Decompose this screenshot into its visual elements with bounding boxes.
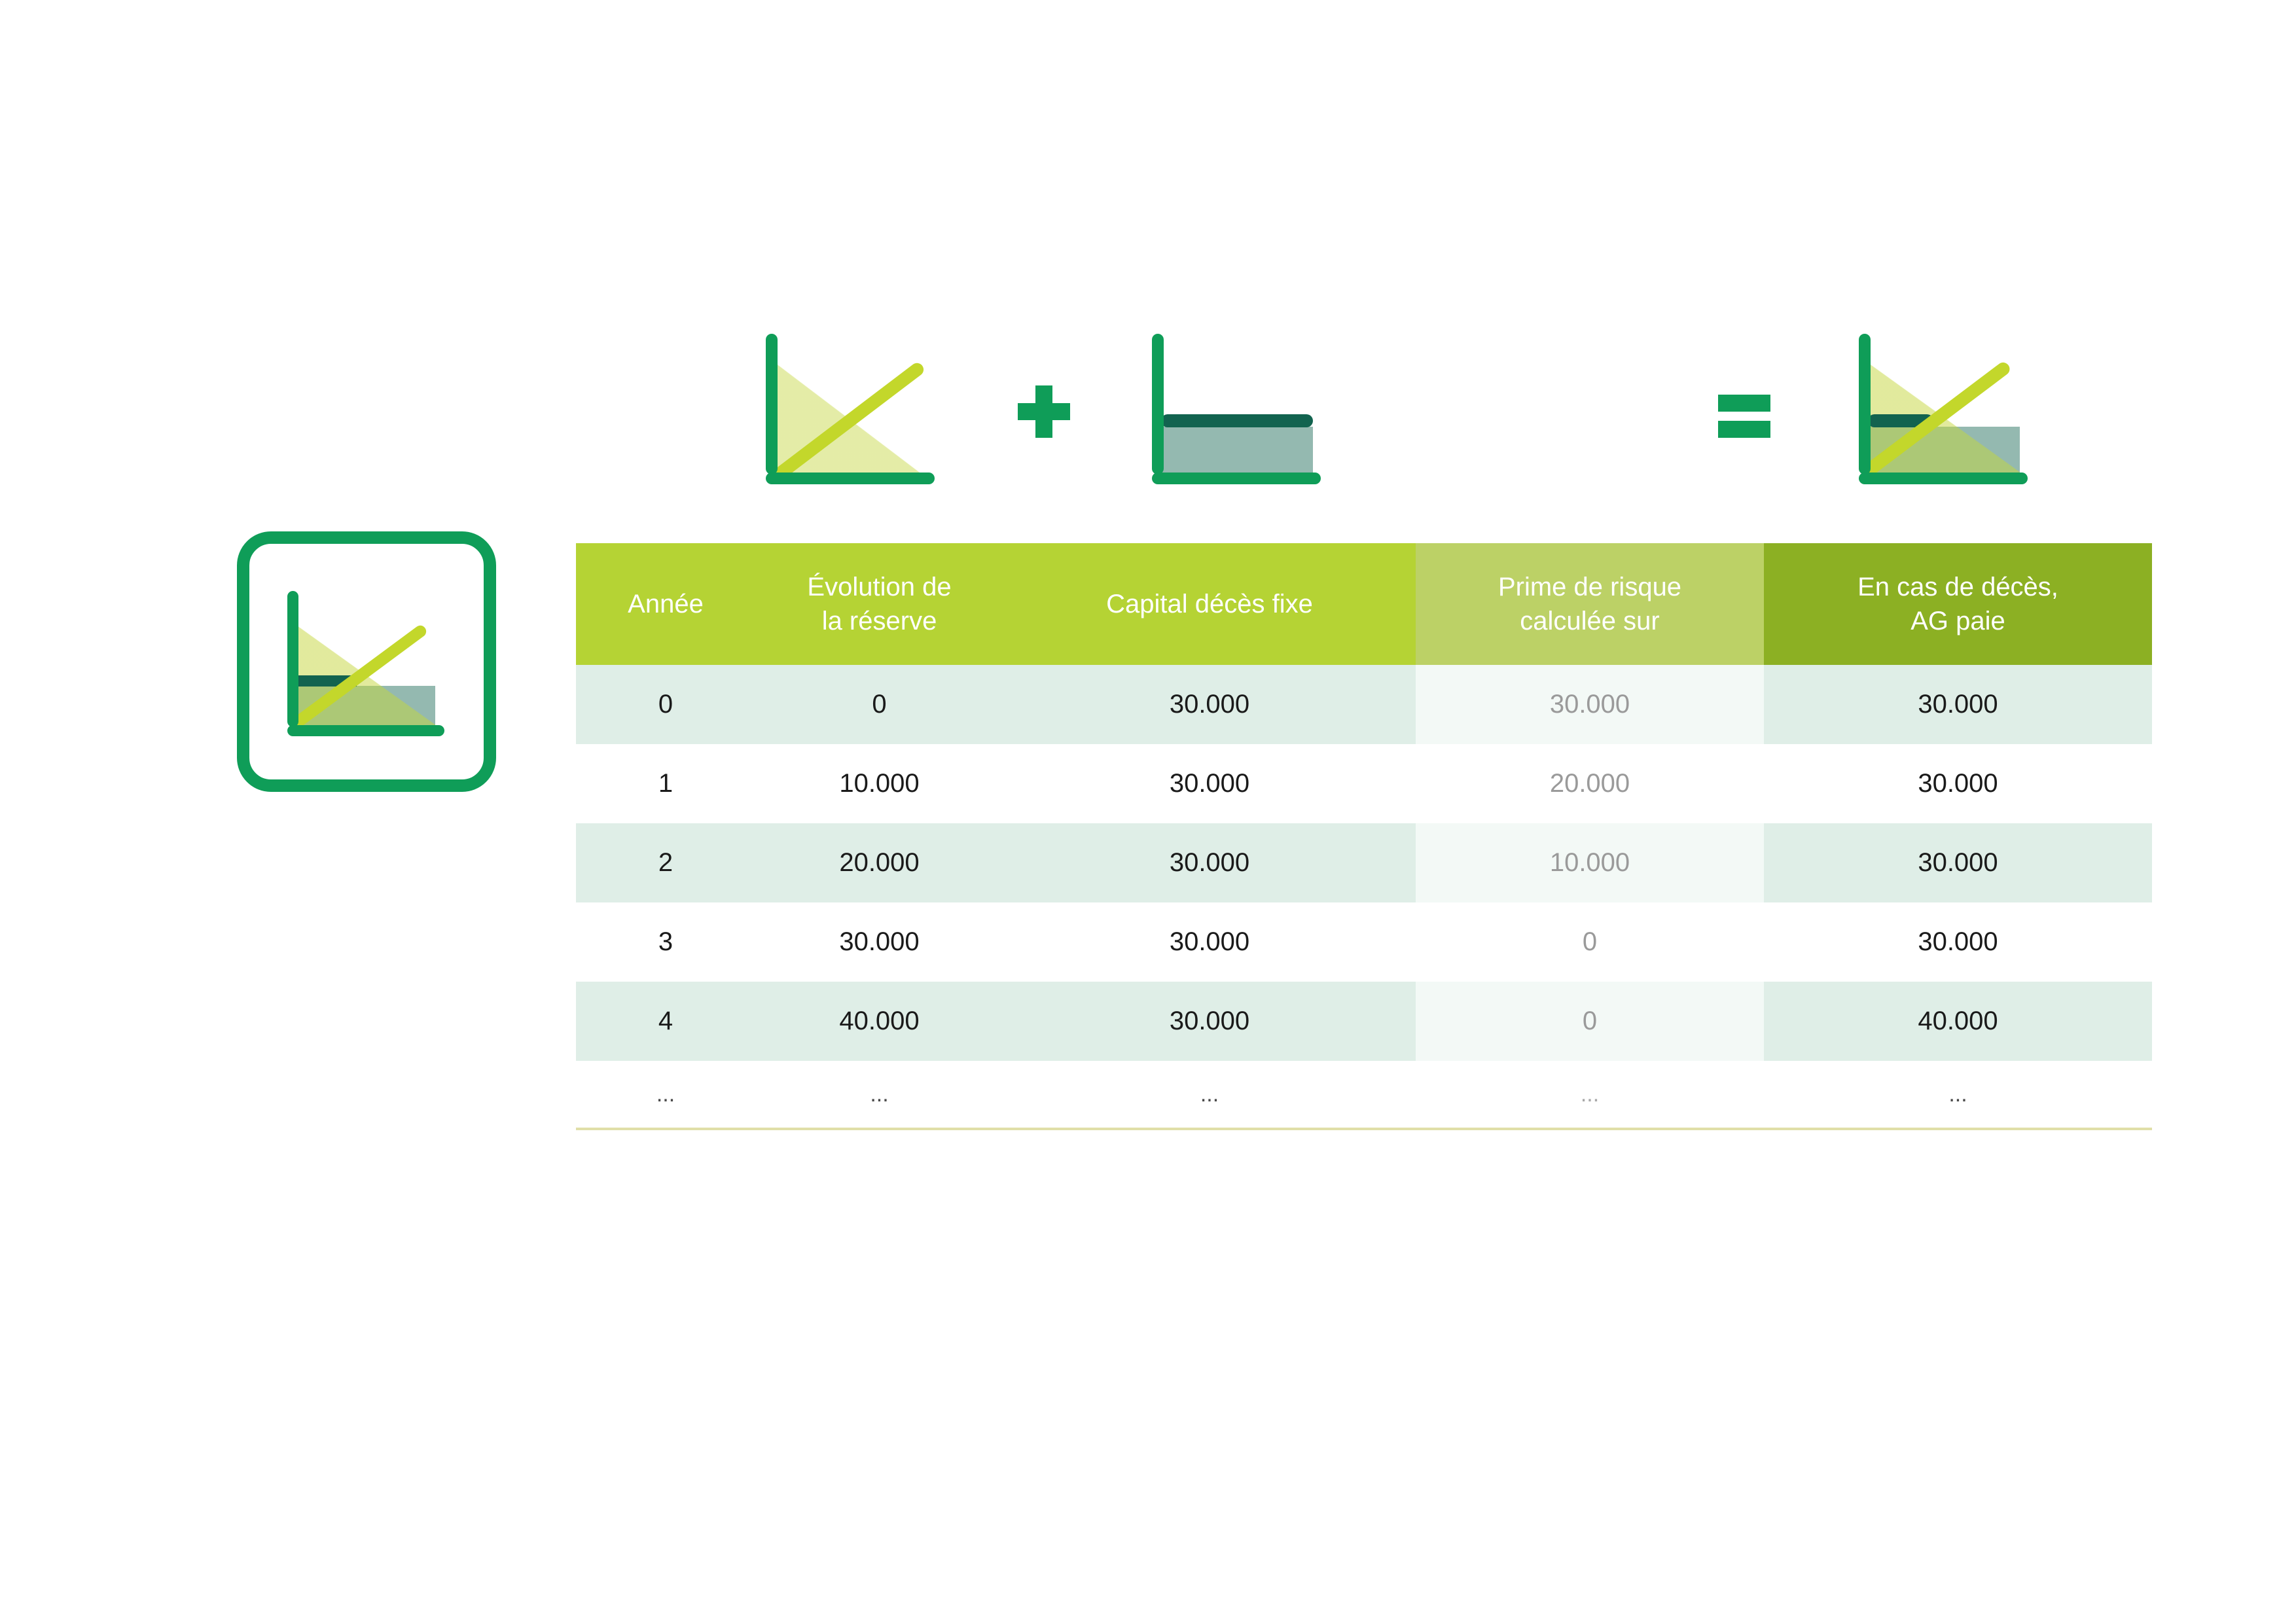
cell-prime: ... [1416,1061,1764,1129]
cell-prime: 30.000 [1416,665,1764,744]
axis-horizontal [1152,473,1321,484]
table-row: 3 30.000 30.000 0 30.000 [576,902,2152,982]
cell-capital: 30.000 [1003,665,1416,744]
icon-fixed-death-capital [1152,327,1342,491]
column-header-prime: Prime de risque calculée sur [1416,543,1764,665]
table-header-row: Année Évolution de la réserve Capital dé… [576,543,2152,665]
axis-vertical [287,591,298,727]
table-header: Année Évolution de la réserve Capital dé… [576,543,2152,665]
column-header-pays: En cas de décès, AG paie [1764,543,2152,665]
cell-year: 0 [576,665,755,744]
cell-reserve: ... [755,1061,1003,1129]
reserve-plus-capital-badge [237,531,496,792]
cell-year: ... [576,1061,755,1129]
cell-prime: 0 [1416,902,1764,982]
plus-icon [1018,327,1070,491]
column-header-reserve-line1: Évolution de [807,573,951,601]
table-body: 0 0 30.000 30.000 30.000 1 10.000 30.000… [576,665,2152,1129]
cell-year: 3 [576,902,755,982]
column-header-prime-line1: Prime de risque [1498,573,1681,601]
axis-vertical [766,334,778,474]
capital-teal-block [1161,427,1313,473]
cell-prime: 10.000 [1416,823,1764,902]
cell-reserve: 20.000 [755,823,1003,902]
icon-combined-payout [1859,327,2049,491]
column-header-pays-line1: En cas de décès, [1857,573,2058,601]
column-header-year-label: Année [628,590,704,618]
column-header-capital: Capital décès fixe [1003,543,1416,665]
cell-prime: 20.000 [1416,744,1764,823]
capital-dark-bar [1161,414,1313,427]
reserve-evolution-table: Année Évolution de la réserve Capital dé… [576,543,2152,1130]
cell-reserve: 30.000 [755,902,1003,982]
cell-year: 2 [576,823,755,902]
table-row: 1 10.000 30.000 20.000 30.000 [576,744,2152,823]
column-header-reserve: Évolution de la réserve [755,543,1003,665]
cell-pays: 40.000 [1764,982,2152,1061]
axis-horizontal [287,725,444,736]
table-row: 0 0 30.000 30.000 30.000 [576,665,2152,744]
table-row: 2 20.000 30.000 10.000 30.000 [576,823,2152,902]
cell-capital: 30.000 [1003,982,1416,1061]
table-row: 4 40.000 30.000 0 40.000 [576,982,2152,1061]
cell-prime: 0 [1416,982,1764,1061]
axis-horizontal [1859,473,2028,484]
cell-pays: 30.000 [1764,823,2152,902]
cell-pays: 30.000 [1764,665,2152,744]
cell-reserve: 10.000 [755,744,1003,823]
cell-pays: ... [1764,1061,2152,1129]
cell-capital: 30.000 [1003,823,1416,902]
column-header-pays-line2: AG paie [1910,607,2005,635]
cell-year: 4 [576,982,755,1061]
cell-capital: 30.000 [1003,902,1416,982]
cell-pays: 30.000 [1764,902,2152,982]
axis-vertical [1859,334,1871,474]
column-header-reserve-line2: la réserve [822,607,937,635]
column-header-prime-line2: calculée sur [1520,607,1659,635]
axis-vertical [1152,334,1164,474]
equation-strip [576,327,2153,517]
cell-capital: 30.000 [1003,744,1416,823]
icon-reserve-growth [766,327,956,491]
combined-payout-icon [287,591,459,736]
cell-year: 1 [576,744,755,823]
equals-icon [1718,327,1770,491]
axis-horizontal [766,473,935,484]
cell-reserve: 40.000 [755,982,1003,1061]
cell-capital: ... [1003,1061,1416,1129]
column-header-year: Année [576,543,755,665]
column-header-capital-label: Capital décès fixe [1106,590,1313,618]
table-row-ellipsis: ... ... ... ... ... [576,1061,2152,1129]
cell-reserve: 0 [755,665,1003,744]
cell-pays: 30.000 [1764,744,2152,823]
